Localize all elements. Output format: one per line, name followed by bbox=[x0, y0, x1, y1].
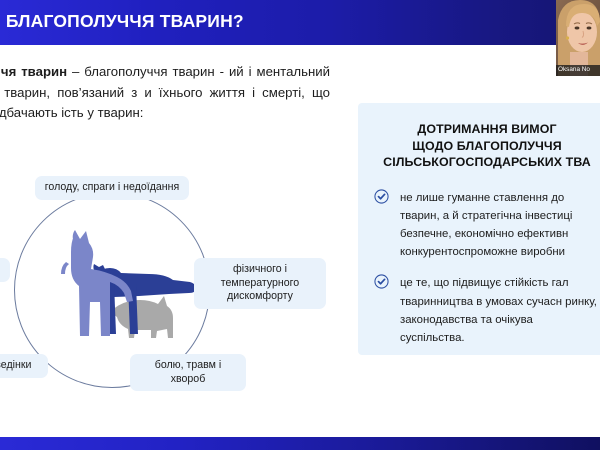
card-title-line-2: ЩОДО БЛАГОПОЛУЧЧЯ bbox=[374, 138, 600, 155]
presentation-slide: КЕ БЛАГОПОЛУЧЧЯ ТВАРИН? олуччя тварин – … bbox=[0, 0, 600, 450]
slide-title-bar: КЕ БЛАГОПОЛУЧЧЯ ТВАРИН? bbox=[0, 0, 600, 45]
bullet-text: не лише гуманне ставлення до тварин, а й… bbox=[400, 192, 572, 259]
slide-bottom-accent-bar bbox=[0, 437, 600, 450]
webcam-video-tile[interactable]: Oksana No bbox=[556, 0, 600, 76]
list-item: не лише гуманне ставлення до тварин, а й… bbox=[374, 188, 600, 261]
participant-name: Oksana No bbox=[558, 66, 590, 73]
card-title-line-1: ДОТРИМАННЯ ВИМОГ bbox=[374, 121, 600, 138]
page-title: КЕ БЛАГОПОЛУЧЧЯ ТВАРИН? bbox=[0, 11, 244, 32]
participant-name-bar: Oksana No bbox=[556, 65, 600, 76]
requirements-bullet-list: не лише гуманне ставлення до тварин, а й… bbox=[374, 188, 600, 347]
welfare-circle-diagram: голоду, спраги і недоїдання фізичного і … bbox=[0, 178, 252, 408]
list-item: це те, що підвищує стійкість гал тваринн… bbox=[374, 273, 600, 346]
diagram-node-hunger[interactable]: голоду, спраги і недоїдання bbox=[35, 176, 189, 200]
check-circle-icon bbox=[374, 189, 389, 204]
card-title-line-3: СІЛЬСЬКОГОСПОДАРСЬКИХ ТВА bbox=[374, 154, 600, 171]
farm-animals-illustration bbox=[44, 226, 194, 352]
diagram-node-fear[interactable]: нь bbox=[0, 258, 10, 282]
check-circle-icon bbox=[374, 274, 389, 289]
lead-paragraph-bold: олуччя тварин bbox=[0, 64, 67, 79]
diagram-node-discomfort[interactable]: фізичного і температурного дискомфорту bbox=[194, 258, 326, 309]
diagram-node-pain[interactable]: болю, травм і хвороб bbox=[130, 354, 246, 391]
bullet-text: це те, що підвищує стійкість гал тваринн… bbox=[400, 277, 597, 344]
requirements-card: ДОТРИМАННЯ ВИМОГ ЩОДО БЛАГОПОЛУЧЧЯ СІЛЬС… bbox=[358, 103, 600, 355]
lead-paragraph: олуччя тварин – благополуччя тварин - ий… bbox=[0, 62, 330, 124]
diagram-node-behaviour[interactable]: нетипової поведінки bbox=[0, 354, 48, 378]
requirements-card-title: ДОТРИМАННЯ ВИМОГ ЩОДО БЛАГОПОЛУЧЧЯ СІЛЬС… bbox=[374, 121, 600, 171]
